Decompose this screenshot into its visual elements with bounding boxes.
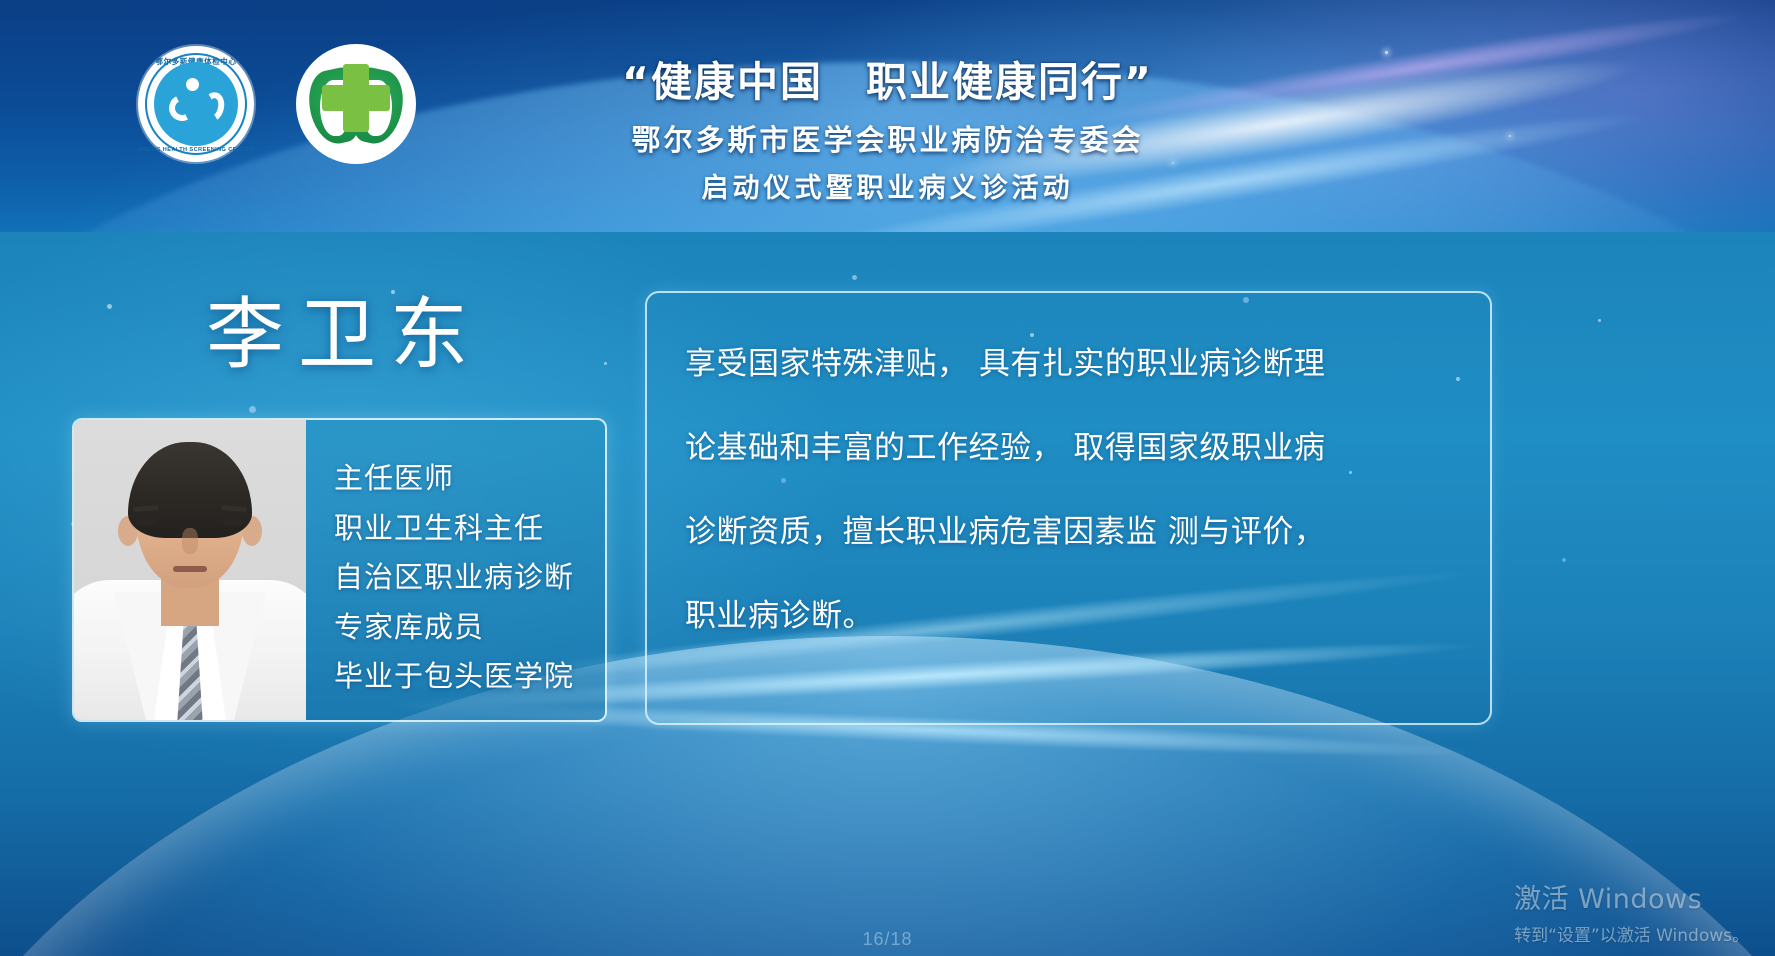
credential-item: 专家库成员 xyxy=(334,603,605,653)
biography-line: 职业病诊断。 xyxy=(685,601,1456,632)
presentation-slide: 鄂尔多斯健康体检中心 ORDOS HEALTH SCREENING CENTER xyxy=(0,0,1775,956)
biography-line: 享受国家特殊津贴， 具有扎实的职业病诊断理 xyxy=(685,349,1456,380)
organizer-name: 鄂尔多斯市医学会职业病防治专委会 xyxy=(0,117,1775,159)
watermark-title: 激活 Windows xyxy=(1514,877,1749,916)
body-sparkle xyxy=(852,275,857,280)
body-sparkle xyxy=(1598,319,1601,322)
watermark-subtitle: 转到“设置”以激活 Windows。 xyxy=(1514,921,1749,946)
credential-item: 主任医师 xyxy=(334,454,605,504)
doctor-name: 李卫东 xyxy=(206,296,482,374)
windows-activation-watermark: 激活 Windows 转到“设置”以激活 Windows。 xyxy=(1514,877,1749,946)
event-slogan: “健康中国 职业健康同行” xyxy=(0,48,1775,108)
header-text-block: “健康中国 职业健康同行” 鄂尔多斯市医学会职业病防治专委会 启动仪式暨职业病义… xyxy=(0,48,1775,205)
doctor-profile-card: 主任医师 职业卫生科主任 自治区职业病诊断 专家库成员 毕业于包头医学院 xyxy=(72,418,607,722)
biography-line: 论基础和丰富的工作经验， 取得国家级职业病 xyxy=(685,433,1456,464)
slide-number: 16/18 xyxy=(862,929,912,950)
credential-item: 自治区职业病诊断 xyxy=(334,553,605,603)
credential-item: 毕业于包头医学院 xyxy=(334,652,605,702)
slide-header-banner: 鄂尔多斯健康体检中心 ORDOS HEALTH SCREENING CENTER xyxy=(0,0,1775,232)
biography-line: 诊断资质，擅长职业病危害因素监 测与评价， xyxy=(685,517,1456,548)
doctor-biography-panel: 享受国家特殊津贴， 具有扎实的职业病诊断理 论基础和丰富的工作经验， 取得国家级… xyxy=(645,291,1492,725)
doctor-portrait-photo xyxy=(74,420,306,720)
body-sparkle xyxy=(107,304,112,309)
body-sparkle xyxy=(1562,558,1566,562)
credential-item: 职业卫生科主任 xyxy=(334,504,605,554)
event-name: 启动仪式暨职业病义诊活动 xyxy=(0,166,1775,205)
body-sparkle xyxy=(604,362,607,365)
doctor-credentials-list: 主任医师 职业卫生科主任 自治区职业病诊断 专家库成员 毕业于包头医学院 xyxy=(306,420,605,720)
body-sparkle xyxy=(249,406,256,413)
